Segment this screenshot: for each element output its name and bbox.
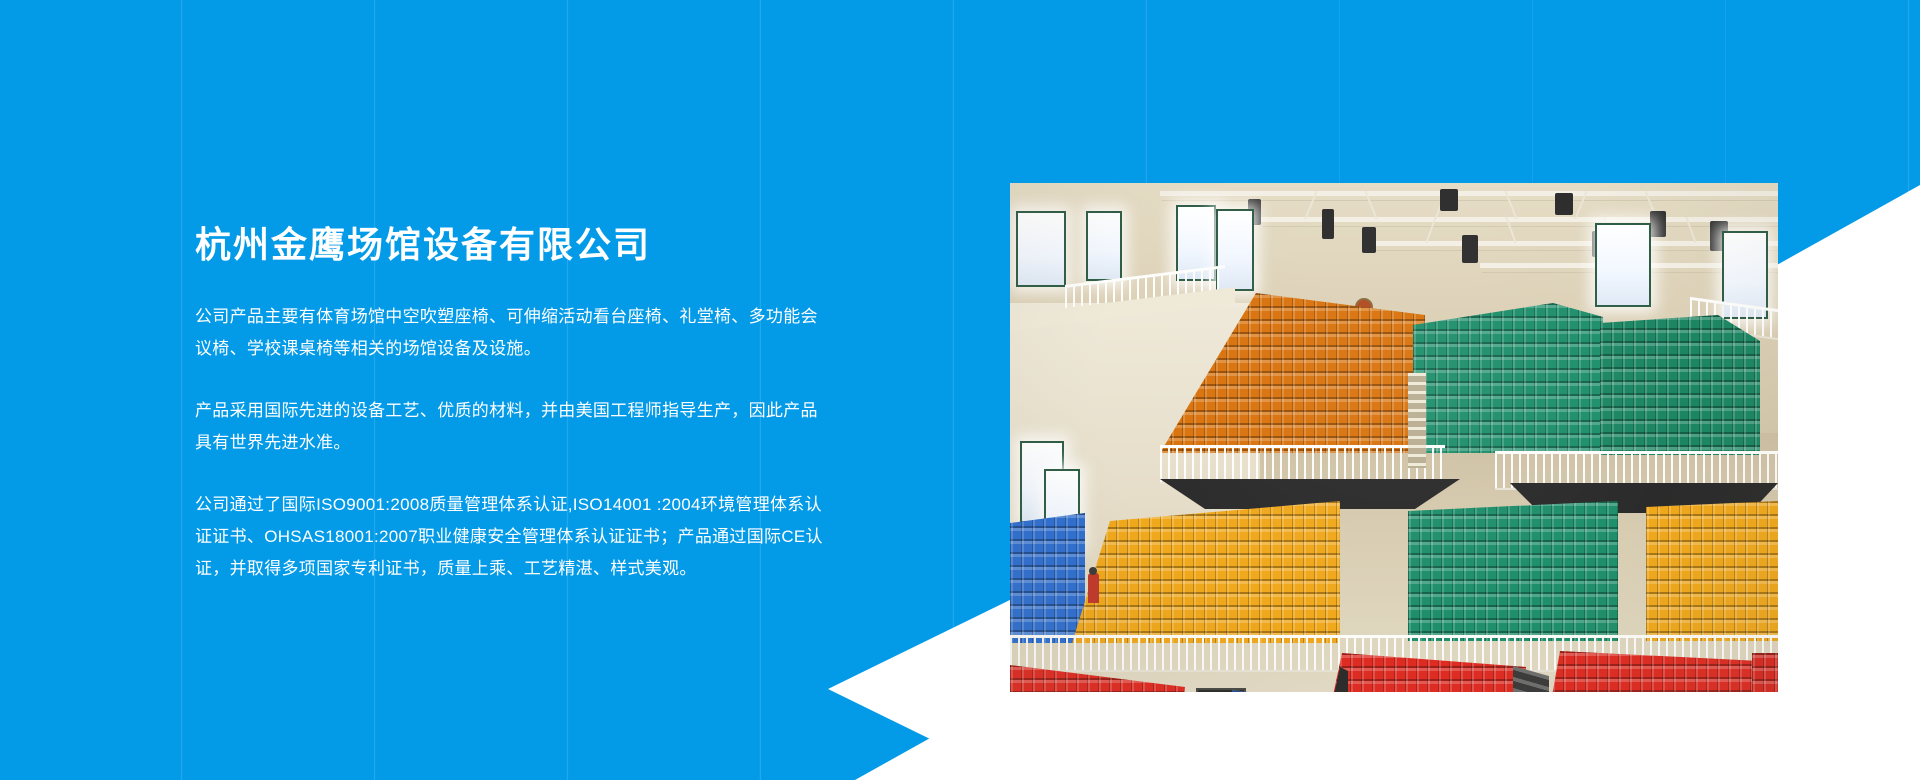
seating-block-green-mid <box>1408 501 1618 641</box>
seat-texture <box>1072 501 1340 643</box>
person-standing <box>1088 573 1099 603</box>
hall-window <box>1595 223 1651 307</box>
seating-block-blue <box>1010 513 1085 643</box>
promo-banner: 杭州金鹰场馆设备有限公司 公司产品主要有体育场馆中空吹塑座椅、可伸缩活动看台座椅… <box>0 0 1920 780</box>
ceiling-light <box>1650 211 1666 237</box>
gymnasium-photo <box>1010 183 1778 692</box>
ceiling-light <box>1462 235 1478 263</box>
tier-stairs <box>1408 373 1426 468</box>
ceiling-light <box>1440 189 1458 211</box>
page-title: 杭州金鹰场馆设备有限公司 <box>195 222 835 267</box>
seat-texture <box>1752 653 1778 692</box>
seat-texture <box>1408 501 1618 641</box>
seating-block-red-far-right <box>1752 653 1778 692</box>
seat-texture <box>1010 513 1085 643</box>
tier-railing-upper-left <box>1160 445 1445 484</box>
ceiling-truss <box>1160 191 1778 196</box>
person-head <box>1089 567 1097 575</box>
paragraph-certifications: 公司通过了国际ISO9001:2008质量管理体系认证,ISO14001 :20… <box>195 489 835 585</box>
hall-window <box>1086 211 1122 281</box>
ceiling-light <box>1362 227 1376 253</box>
seating-block-yellow-right <box>1646 501 1778 641</box>
ceiling-light <box>1555 193 1573 215</box>
seat-texture <box>1600 315 1760 455</box>
seat-texture <box>1646 501 1778 641</box>
seating-block-green-upper <box>1413 303 1603 453</box>
hall-window <box>1016 211 1066 287</box>
paragraph-products: 公司产品主要有体育场馆中空吹塑座椅、可伸缩活动看台座椅、礼堂椅、多功能会议椅、学… <box>195 301 835 365</box>
ceiling-light <box>1322 209 1334 239</box>
seating-block-green-right <box>1600 315 1760 455</box>
seat-texture <box>1413 303 1603 453</box>
ceiling-truss <box>1260 217 1778 222</box>
paragraph-technology: 产品采用国际先进的设备工艺、优质的材料，并由美国工程师指导生产，因此产品具有世界… <box>195 395 835 459</box>
banner-text-block: 杭州金鹰场馆设备有限公司 公司产品主要有体育场馆中空吹塑座椅、可伸缩活动看台座椅… <box>195 222 835 585</box>
seating-block-yellow <box>1072 501 1340 643</box>
